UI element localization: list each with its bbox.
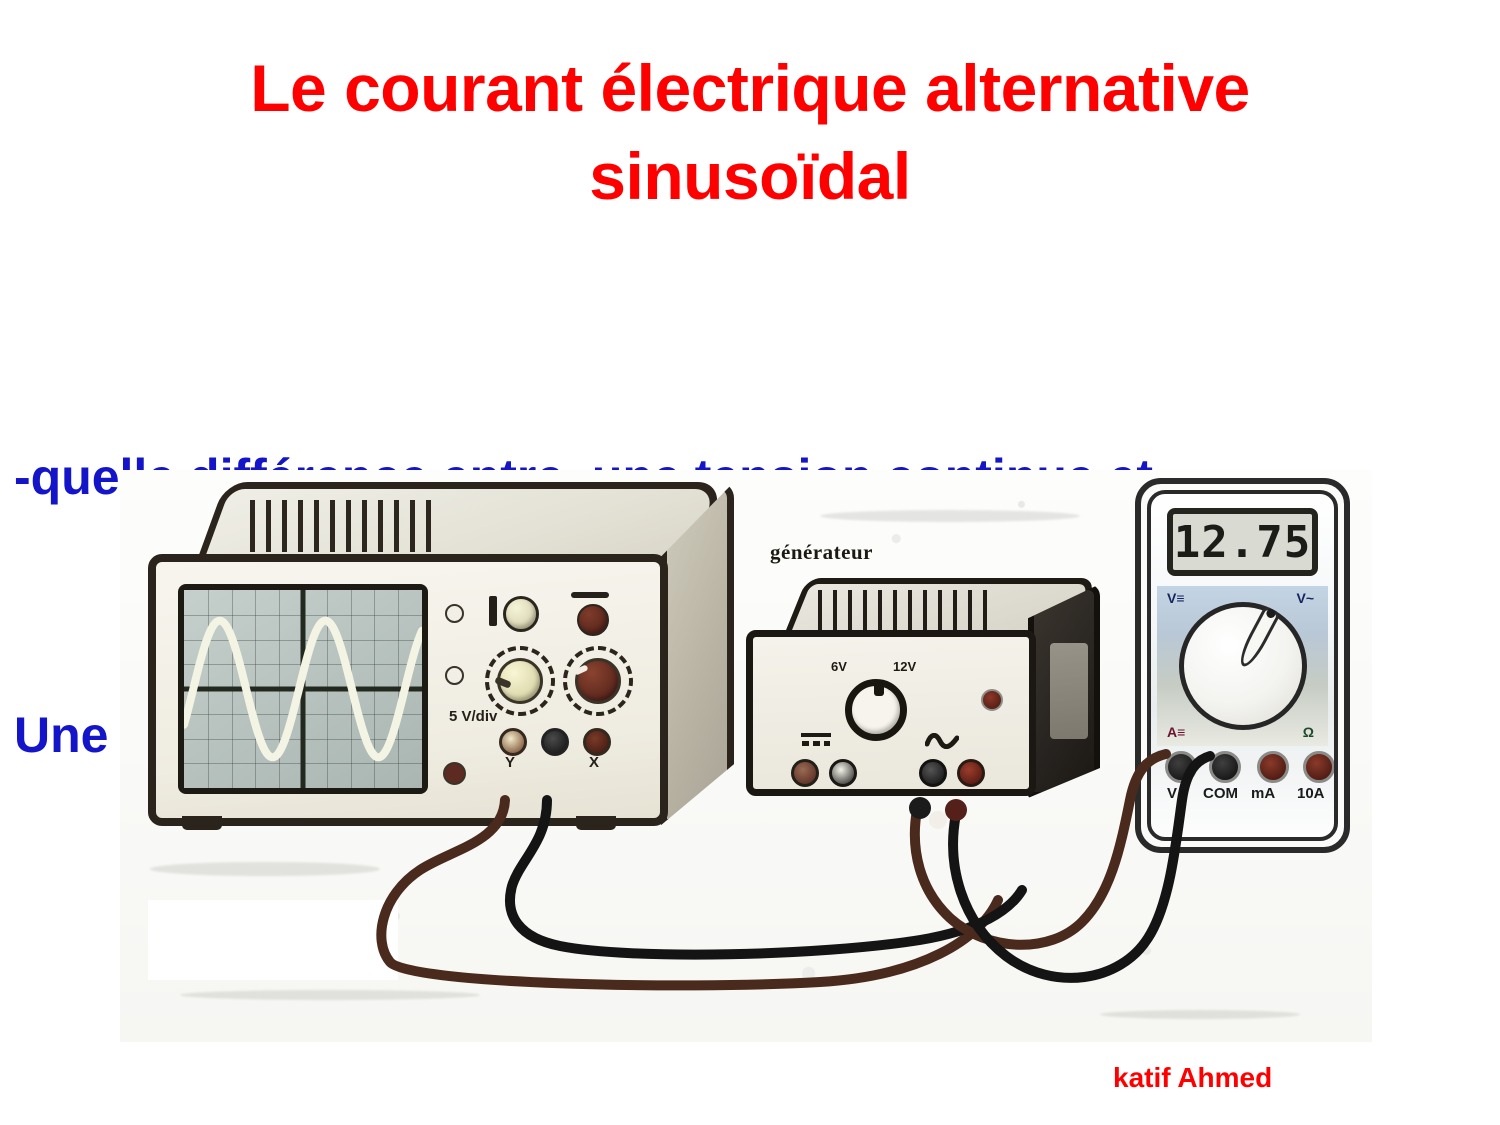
scan-streak (150, 862, 380, 876)
oscilloscope-indicator-1[interactable] (445, 604, 464, 623)
multimeter-jack-v[interactable] (1165, 751, 1197, 783)
gain-knob-pointer (494, 676, 511, 688)
oscilloscope-terminal-y-label: Y (505, 754, 515, 771)
generator-voltage-12v-label: 12V (893, 659, 916, 674)
multimeter-jack-v-label: V (1167, 785, 1177, 802)
oscilloscope-controls: 5 V/div Y X (441, 580, 661, 800)
oscilloscope-foot-left (182, 816, 222, 830)
multimeter-display-value: 12.75 (1173, 514, 1312, 570)
multimeter-mode-vdc-symbol: ≡ (1176, 590, 1184, 606)
generator-grille (1050, 643, 1088, 740)
dc-symbol-icon (801, 733, 831, 747)
experiment-photo: 5 V/div Y X générateur (120, 470, 1372, 1042)
multimeter-mode-vdc-letter: V (1167, 590, 1176, 606)
multimeter-faceplate: 12.75 V≡ V~ A≡ Ω (1147, 490, 1338, 841)
oscilloscope: 5 V/div Y X (140, 482, 740, 852)
oscilloscope-timebase-knob[interactable] (575, 658, 621, 704)
generator-front-panel: 6V 12V (746, 630, 1036, 796)
oscilloscope-vents (239, 500, 450, 552)
oscilloscope-sweep-knob-small[interactable] (577, 604, 609, 636)
multimeter-dial-area: V≡ V~ A≡ Ω (1157, 586, 1328, 746)
generator-terminal-ac-2[interactable] (957, 759, 985, 787)
generator-terminal-dc-plus[interactable] (791, 759, 819, 787)
oscilloscope-sweep-mark (571, 592, 609, 598)
oscilloscope-screen (184, 590, 422, 788)
oscilloscope-scale-mark (489, 596, 497, 626)
multimeter-mode-adc-symbol: ≡ (1177, 724, 1185, 740)
oscilloscope-terminal-ground[interactable] (541, 728, 569, 756)
generator-vents (809, 590, 1018, 632)
dial-pointer-dot (1264, 607, 1276, 619)
multimeter-mode-adc-letter: A (1167, 724, 1177, 740)
multimeter-dial-pointer (1235, 605, 1281, 670)
oscilloscope-indicator-2[interactable] (445, 666, 464, 685)
generator-terminal-dc-minus[interactable] (829, 759, 857, 787)
multimeter-mode-vac-symbol: ~ (1306, 590, 1314, 606)
ac-symbol-icon (925, 733, 959, 749)
multimeter-jack-ma-label: mA (1251, 785, 1275, 802)
paper-patch (148, 900, 398, 980)
title-line-2: sinusoïdal (0, 132, 1500, 220)
multimeter-rotary-dial[interactable] (1179, 602, 1307, 730)
author-credit: katif Ahmed (1113, 1062, 1272, 1094)
scan-streak (1100, 1010, 1300, 1019)
multimeter-mode-vac: V~ (1296, 590, 1314, 606)
generator-power-indicator[interactable] (981, 689, 1003, 711)
multimeter-mode-vdc: V≡ (1167, 590, 1185, 606)
multimeter-mode-ohm: Ω (1303, 724, 1314, 740)
multimeter-jack-10a-label: 10A (1297, 785, 1325, 802)
generator-terminal-ac-1[interactable] (919, 759, 947, 787)
oscilloscope-terminal-x[interactable] (583, 728, 611, 756)
generator-voltage-6v-label: 6V (831, 659, 847, 674)
multimeter-mode-vac-letter: V (1296, 590, 1305, 606)
oscilloscope-gain-knob[interactable] (497, 658, 543, 704)
multimeter-jack-ma[interactable] (1257, 751, 1289, 783)
scan-streak (180, 990, 480, 1000)
oscilloscope-sensitivity-label: 5 V/div (449, 708, 497, 725)
page-title: Le courant électrique alternative sinuso… (0, 44, 1500, 221)
oscilloscope-terminal-y[interactable] (499, 728, 527, 756)
oscilloscope-foot-right (576, 816, 616, 830)
oscilloscope-terminal-x-label: X (589, 754, 599, 771)
selector-knob-pointer (874, 682, 884, 696)
oscilloscope-indicator-3[interactable] (443, 762, 466, 785)
multimeter-mode-adc: A≡ (1167, 724, 1185, 740)
multimeter: 12.75 V≡ V~ A≡ Ω (1135, 478, 1350, 853)
multimeter-display-bezel: 12.75 (1167, 508, 1318, 576)
title-line-1: Le courant électrique alternative (0, 44, 1500, 132)
generator-side-panel (1028, 584, 1100, 798)
generator-selector-knob[interactable] (845, 679, 907, 741)
oscilloscope-front-panel: 5 V/div Y X (148, 554, 668, 826)
multimeter-jack-10a[interactable] (1303, 751, 1335, 783)
oscilloscope-intensity-knob[interactable] (503, 596, 539, 632)
multimeter-jack-com-label: COM (1203, 785, 1238, 802)
multimeter-jack-row: V COM mA 10A (1151, 751, 1334, 823)
multimeter-jack-com[interactable] (1209, 751, 1241, 783)
oscilloscope-waveform (184, 590, 422, 788)
scan-streak (820, 510, 1080, 522)
generator: générateur 6V 12V (740, 550, 1110, 850)
generator-caption: générateur (770, 540, 873, 565)
oscilloscope-screen-bezel (178, 584, 428, 794)
